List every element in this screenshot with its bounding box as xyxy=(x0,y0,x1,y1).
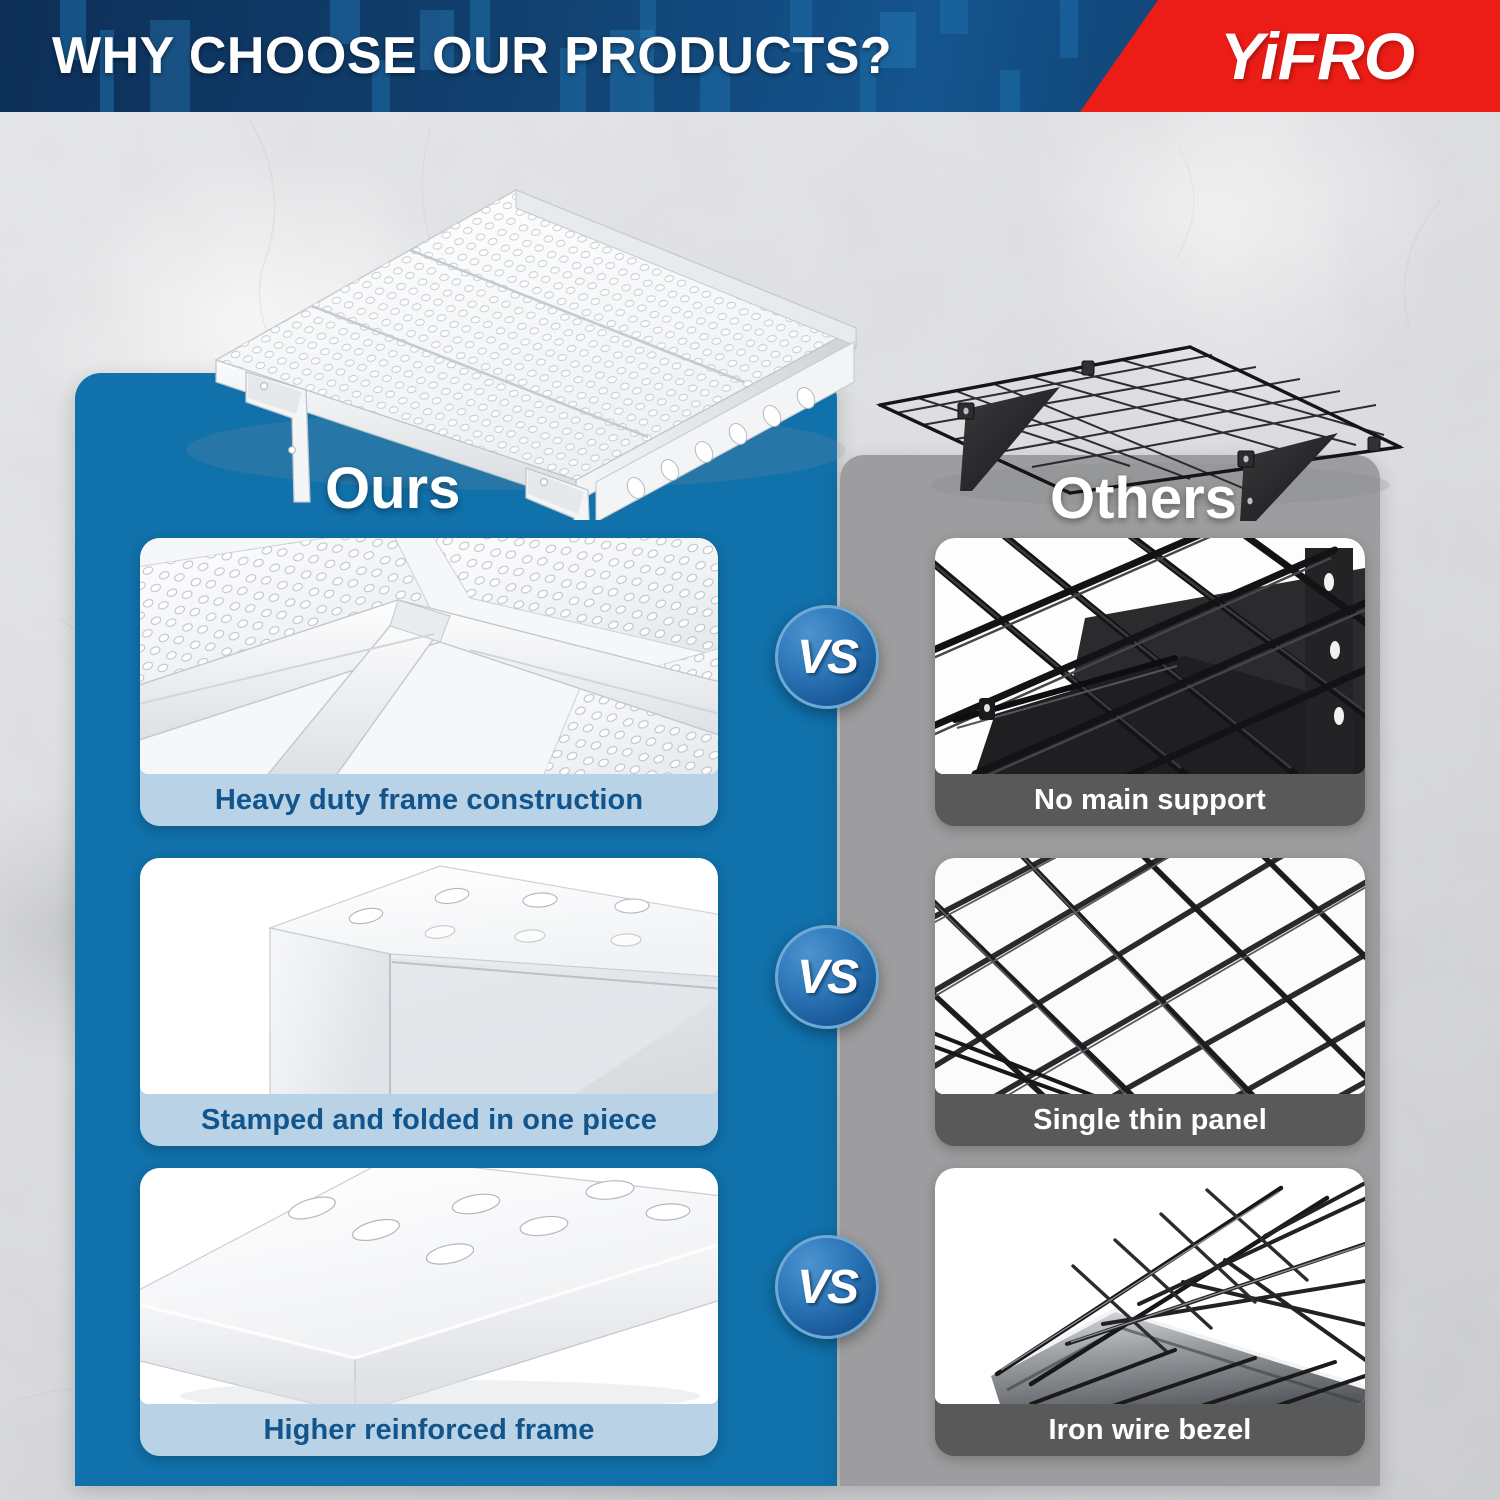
page-title: WHY CHOOSE OUR PRODUCTS? xyxy=(52,0,892,112)
feature-photo-ours-1 xyxy=(140,538,718,774)
vs-badge-1: VS xyxy=(775,605,879,709)
feature-photo-others-2 xyxy=(935,858,1365,1094)
feature-caption-ours-3: Higher reinforced frame xyxy=(140,1404,718,1456)
feature-caption-others-2: Single thin panel xyxy=(935,1094,1365,1146)
feature-card-others-1[interactable]: No main support xyxy=(935,538,1365,826)
feature-caption-ours-1: Heavy duty frame construction xyxy=(140,774,718,826)
brand-logo: YiFRO xyxy=(1080,0,1500,112)
feature-card-others-2[interactable]: Single thin panel xyxy=(935,858,1365,1146)
feature-card-ours-2[interactable]: Stamped and folded in one piece xyxy=(140,858,718,1146)
vs-badge-2: VS xyxy=(775,925,879,1029)
feature-caption-others-3: Iron wire bezel xyxy=(935,1404,1365,1456)
vs-badge-label: VS xyxy=(797,950,857,1005)
column-heading-ours: Ours xyxy=(325,455,460,522)
column-heading-others: Others xyxy=(1050,465,1237,532)
feature-photo-ours-3 xyxy=(140,1168,718,1404)
feature-card-others-3[interactable]: Iron wire bezel xyxy=(935,1168,1365,1456)
vs-badge-label: VS xyxy=(797,630,857,685)
feature-photo-others-1 xyxy=(935,538,1365,774)
feature-caption-ours-2: Stamped and folded in one piece xyxy=(140,1094,718,1146)
page-header: WHY CHOOSE OUR PRODUCTS? YiFRO xyxy=(0,0,1500,112)
feature-card-ours-3[interactable]: Higher reinforced frame xyxy=(140,1168,718,1456)
vs-badge-label: VS xyxy=(797,1260,857,1315)
hero-image-ours xyxy=(96,150,886,520)
vs-badge-3: VS xyxy=(775,1235,879,1339)
feature-photo-ours-2 xyxy=(140,858,718,1094)
feature-card-ours-1[interactable]: Heavy duty frame construction xyxy=(140,538,718,826)
feature-caption-others-1: No main support xyxy=(935,774,1365,826)
feature-photo-others-3 xyxy=(935,1168,1365,1404)
